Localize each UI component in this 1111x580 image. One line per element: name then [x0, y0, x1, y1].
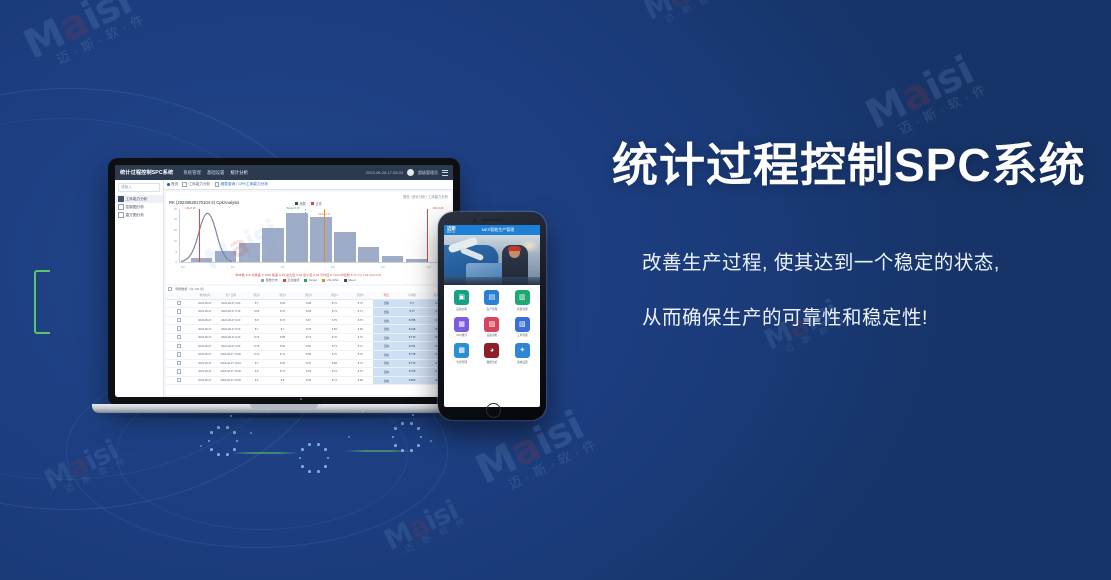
tab-report-cpk[interactable]: 报表查询 / CPK工序能力分析 [215, 182, 269, 187]
phone-logo-text: 迈斯 [447, 226, 456, 231]
sidebar-search-placeholder: 请输入 [121, 185, 132, 190]
tab-home[interactable]: 首页 [167, 182, 178, 187]
decor-spark [230, 415, 232, 417]
decor-dot-ring [206, 424, 240, 458]
laptop-lid: 统计过程控制SPC系统 系统管理 基础设置 统计分析 2023-06-28 17… [108, 158, 460, 406]
sidebar-item-histogram[interactable]: 直方图分析 [115, 211, 163, 219]
table-cell: 8.76 [347, 316, 373, 325]
nav-item-analysis[interactable]: 统计分析 [230, 170, 248, 176]
watermark: Maisi迈·斯·软·件 [640, 0, 730, 31]
table-row[interactable]: 2023-06-272023-06-27 10:308.18.88.668.74… [166, 376, 451, 385]
row-checkbox[interactable] [177, 301, 181, 305]
y-tick: 10 [174, 239, 177, 243]
table-header-row: 检验时间生产日期测点1测点2测点3测点4测点5判定平均值标准差 [166, 292, 451, 299]
decor-spark [412, 414, 414, 416]
row-checkbox[interactable] [177, 344, 181, 348]
row-checkbox[interactable] [177, 378, 181, 382]
phone-app-tile[interactable]: ▨工单管理 [509, 317, 536, 338]
table-cell: 8.72 [321, 299, 347, 308]
square-icon [182, 182, 187, 187]
table-cell: 8.66 [244, 308, 270, 317]
tab-bar: 首页 工序能力分析 报表查询 / CPK工序能力分析 [164, 180, 453, 190]
table-cell: 8.78 [244, 342, 270, 351]
table-toolbar-label: 明细数据（共 120 条） [175, 287, 206, 291]
app-body: 请输入 工序能力分析 控制图分析 直方图分析 [115, 180, 453, 397]
table-cell: 8.72 [244, 351, 270, 360]
x-tick: 8.8 [331, 266, 335, 269]
stats-legend-item: Mean [344, 278, 356, 282]
table-cell: 2023-06-27 9:40 [218, 333, 244, 342]
table-cell: 2023-06-27 [192, 333, 218, 342]
table-cell: 8.7 [244, 359, 270, 368]
table-cell: 8.8 [244, 368, 270, 377]
x-tick: 9.2 [427, 266, 431, 269]
table-cell: 2023-06-27 9:30 [218, 325, 244, 334]
table-cell: 8.68 [296, 299, 322, 308]
target-line [305, 209, 306, 262]
stats-legend-label: Target [309, 278, 317, 282]
table-cell: 8.69 [296, 368, 322, 377]
table-cell: 8.79 [244, 333, 270, 342]
dot-icon [167, 183, 170, 186]
table-column-header: 测点3 [296, 292, 322, 299]
square-icon [215, 182, 220, 187]
phone-app-tile[interactable]: ▩仓库管理 [448, 343, 475, 364]
app-tile-label: 数据分析 [487, 360, 498, 364]
sidebar-item-label: 直方图分析 [126, 213, 144, 218]
app-tile-icon: ▩ [454, 343, 469, 358]
histogram-bar [382, 256, 403, 262]
table-cell: 8.7 [244, 299, 270, 308]
table-cell: 2023-06-27 [192, 342, 218, 351]
table-cell: 8.77 [399, 308, 425, 317]
app-tile-icon: ◕ [484, 343, 499, 358]
phone-logo-sub: MAISI [447, 232, 456, 234]
histogram-bar [310, 217, 331, 262]
table-cell: 8.7 [244, 325, 270, 334]
app-tile-label: 系统设置 [517, 360, 528, 364]
table-cell: 8.73 [321, 342, 347, 351]
legend-label: 频数 [300, 201, 306, 206]
tab-label: 报表查询 / CPK工序能力分析 [221, 182, 269, 187]
app-tile-icon: ▥ [515, 290, 530, 305]
y-tick: 5 [175, 250, 177, 254]
phone-body: 迈斯 MAISI MES智能生产管理 ▣设备台账▤生产管理▥质量管 [438, 212, 546, 420]
table-cell: 2023-06-27 [192, 299, 218, 308]
stats-legend-label: Mean [348, 278, 356, 282]
sidebar-item-process-capability[interactable]: 工序能力分析 [115, 195, 163, 203]
table-cell: 合格 [373, 316, 399, 325]
nav-item-system[interactable]: 系统管理 [183, 170, 201, 176]
decor-spark [348, 436, 350, 438]
tab-process-capability[interactable]: 工序能力分析 [182, 182, 210, 187]
table-cell: 8.75 [347, 351, 373, 360]
chart-stats-legend: 频数分布 正态曲线 Target LSL/USL Mean [169, 278, 448, 282]
table-cell: 2023-06-27 [192, 376, 218, 385]
checkbox-icon[interactable] [168, 287, 172, 291]
nav-item-basic[interactable]: 基础设置 [207, 170, 225, 176]
speaker-grille [481, 219, 503, 221]
table-cell: 2023-06-27 [192, 316, 218, 325]
table-cell: 合格 [373, 342, 399, 351]
file-icon [118, 212, 124, 218]
app-tile-icon: ▧ [484, 317, 499, 332]
table-row[interactable]: 2023-06-272023-06-27 10:208.88.718.698.7… [166, 368, 451, 377]
table-cell: 8.778 [399, 351, 425, 360]
home-button[interactable] [486, 403, 501, 418]
watermark: Maisi迈·斯·软·件 [860, 47, 993, 148]
legend-label: 正态 [316, 201, 322, 206]
y-tick: 20 [174, 217, 177, 221]
table-cell: 8.1 [244, 376, 270, 385]
phone-app-tile[interactable]: ▥质量管理 [509, 290, 536, 311]
phone-screen: 迈斯 MAISI MES智能生产管理 ▣设备台账▤生产管理▥质量管 [444, 225, 540, 407]
breadcrumb: 首页 / 统计分析 / 工序能力分析 [169, 194, 448, 199]
chart-stats-text: 样本数 120 标准差 0.1682 极差 0.94 最大值 9.18 最小值 … [235, 272, 381, 277]
table-cell: 8.70 [347, 368, 373, 377]
table-cell: 合格 [373, 376, 399, 385]
table-column-header: 平均值 [399, 292, 425, 299]
app-logo: 统计过程控制SPC系统 [120, 169, 173, 176]
x-tick: 8.6 [281, 266, 285, 269]
table-cell: 合格 [373, 308, 399, 317]
decor-spark [300, 398, 302, 400]
app-tile-icon: ✦ [515, 343, 530, 358]
tab-label: 首页 [171, 182, 178, 187]
histogram-bar [239, 243, 260, 262]
table-cell: 8.70 [321, 333, 347, 342]
table-cell: 8.71 [347, 308, 373, 317]
x-tick: 8.4 [231, 266, 235, 269]
phone-mockup: 迈斯 MAISI MES智能生产管理 ▣设备台账▤生产管理▥质量管 [438, 212, 546, 420]
table-cell: 合格 [373, 368, 399, 377]
histogram-bar [262, 228, 283, 262]
sidebar-item-label: 工序能力分析 [126, 197, 148, 202]
table-cell: 8.72 [270, 316, 296, 325]
table-cell: 8.71 [270, 368, 296, 377]
watermark: Maisi迈·斯·软·件 [380, 493, 470, 561]
page-title: 统计过程控制SPC系统 [612, 140, 1092, 192]
app-nav[interactable]: 系统管理 基础设置 统计分析 [183, 170, 248, 176]
decor-spark [268, 408, 270, 410]
table-column-header: 生产日期 [218, 292, 244, 299]
table-cell: 8.448 [399, 325, 425, 334]
table-cell: 8.67 [296, 316, 322, 325]
app-timestamp: 2023-06-28 17:28:33 [366, 170, 403, 175]
phone-app-title: MES智能生产管理 [482, 227, 515, 233]
table-cell: 2023-06-27 9:10 [218, 308, 244, 317]
stats-legend-label: 频数分布 [266, 278, 278, 282]
table-cell: 8.73 [347, 359, 373, 368]
legend-swatch [311, 202, 314, 205]
annotation-target: Target 8.70 [286, 207, 299, 210]
avatar[interactable] [407, 169, 414, 176]
laptop-screen: 统计过程控制SPC系统 系统管理 基础设置 统计分析 2023-06-28 17… [115, 165, 453, 397]
app-tile-icon: ▨ [515, 317, 530, 332]
y-tick: 0 [175, 260, 177, 264]
table-cell: 2023-06-27 [192, 359, 218, 368]
app-tile-icon: ▤ [484, 290, 499, 305]
table-cell: 2023-06-27 9:50 [218, 342, 244, 351]
laptop-mockup: 统计过程控制SPC系统 系统管理 基础设置 统计分析 2023-06-28 17… [108, 158, 460, 406]
file-icon [118, 204, 124, 210]
row-checkbox[interactable] [177, 335, 181, 339]
decor-line-left [232, 452, 298, 454]
tab-label: 工序能力分析 [188, 182, 210, 187]
y-tick: 25 [174, 207, 177, 211]
annotation-mean: Mean 8.71 [318, 213, 330, 216]
camera-icon [473, 219, 476, 222]
table-cell: 8.69 [347, 325, 373, 334]
phone-app-tile[interactable]: ◕数据分析 [478, 343, 505, 364]
table-cell: 2023-06-27 [192, 308, 218, 317]
table-column-header: 测点5 [347, 292, 373, 299]
y-axis: 25 20 15 10 5 0 [169, 207, 178, 263]
table-body: 2023-06-272023-06-27 9:008.78.668.688.72… [166, 299, 451, 385]
table-cell: 2023-06-27 [192, 351, 218, 360]
table-cell: 2023-06-27 10:10 [218, 359, 244, 368]
table-cell: 8.8 [270, 376, 296, 385]
table-cell: 合格 [373, 325, 399, 334]
plot-area: LSL 8.20 Target 8.70 Mean 8.71 USL 9.20 [179, 209, 446, 263]
app-tile-label: SPC统计 [456, 333, 467, 337]
app-username[interactable]: 超级管理员 [418, 170, 438, 176]
histogram-bar [358, 247, 379, 262]
app-tile-label: 生产管理 [487, 307, 498, 311]
table-row[interactable]: 2023-06-272023-06-27 9:408.798.688.748.7… [166, 333, 451, 342]
laptop-base [92, 404, 476, 413]
cpk-histogram-chart: 25 20 15 10 5 0 [169, 207, 448, 271]
mean-line [324, 209, 325, 262]
decor-spark [320, 404, 322, 406]
table-cell: 8.70 [321, 351, 347, 360]
app-header: 统计过程控制SPC系统 系统管理 基础设置 统计分析 2023-06-28 17… [115, 165, 453, 180]
table-cell: 8.72 [347, 333, 373, 342]
row-checkbox[interactable] [177, 352, 181, 356]
table-row[interactable]: 2023-06-272023-06-27 9:508.788.698.668.7… [166, 342, 451, 351]
row-checkbox[interactable] [177, 318, 181, 322]
table-cell: 8.770 [399, 359, 425, 368]
decor-dot-ring [297, 441, 331, 475]
normal-curve [180, 209, 233, 262]
table-cell: 8.70 [270, 308, 296, 317]
decor-spark [362, 410, 364, 412]
watermark: Maisi迈·斯·软·件 [18, 0, 151, 78]
table-row[interactable]: 2023-06-272023-06-27 9:208.88.728.678.75… [166, 316, 451, 325]
table-cell: 8.70 [347, 299, 373, 308]
table-cell: 8.74 [270, 351, 296, 360]
phone-app-tile[interactable]: ▤生产管理 [478, 290, 505, 311]
stats-legend-label: LSL/USL [327, 278, 339, 282]
table-cell: 8.72 [321, 368, 347, 377]
phone-banner-photo [444, 235, 540, 285]
table-cell: 8.68 [270, 333, 296, 342]
app-sidebar: 请输入 工序能力分析 控制图分析 直方图分析 [115, 180, 164, 397]
table-cell: 8.66 [270, 299, 296, 308]
table-row[interactable]: 2023-06-272023-06-27 9:008.78.668.688.72… [166, 299, 451, 308]
banner-stage: 统计过程控制SPC系统 系统管理 基础设置 统计分析 2023-06-28 17… [0, 0, 1111, 580]
table-column-header: 判定 [373, 292, 399, 299]
chart-panel: 首页 / 统计分析 / 工序能力分析 RK (20230628170104-2)… [166, 192, 451, 284]
detail-table: 检验时间生产日期测点1测点2测点3测点4测点5判定平均值标准差 2023-06-… [166, 292, 451, 385]
table-row[interactable]: 2023-06-272023-06-27 10:108.78.668.768.6… [166, 359, 451, 368]
stats-legend-item: Target [304, 278, 317, 282]
table-column-header [166, 292, 192, 299]
table-cell: 合格 [373, 359, 399, 368]
hamburger-icon[interactable] [442, 170, 448, 176]
table-column-header: 检验时间 [192, 292, 218, 299]
legend-swatch [295, 202, 298, 205]
x-tick: 9.0 [381, 266, 385, 269]
row-checkbox[interactable] [177, 326, 181, 330]
app-tile-label: 仓库管理 [456, 360, 467, 364]
table-cell: 8.68 [347, 376, 373, 385]
histogram-bar [406, 259, 427, 262]
table-cell: 8.660 [399, 376, 425, 385]
table-cell: 8.68 [296, 351, 322, 360]
sidebar-item-control-chart[interactable]: 控制图分析 [115, 203, 163, 211]
table-cell: 8.74 [321, 376, 347, 385]
stats-legend-label: 正态曲线 [287, 278, 299, 282]
app-header-right: 2023-06-28 17:28:33 超级管理员 [366, 169, 448, 176]
table-cell: 2023-06-27 [192, 368, 218, 377]
table-column-header: 测点1 [244, 292, 270, 299]
sidebar-search-input[interactable]: 请输入 [118, 183, 160, 192]
hero-subcopy: 改善生产过程, 使其达到一个稳定的状态, 从而确保生产的可靠性和稳定性! [612, 254, 1092, 329]
folder-icon [118, 196, 124, 202]
histogram-bar [334, 232, 355, 262]
row-checkbox[interactable] [177, 361, 181, 365]
hero-copy: 统计过程控制SPC系统 改善生产过程, 使其达到一个稳定的状态, 从而确保生产的… [612, 140, 1092, 365]
app-tile-label: 设备巡检 [487, 333, 498, 337]
y-tick: 15 [174, 228, 177, 232]
row-checkbox[interactable] [177, 369, 181, 373]
phone-app-header: 迈斯 MAISI MES智能生产管理 [444, 225, 540, 235]
photo-worker-cap [508, 246, 521, 251]
table-cell: 合格 [373, 333, 399, 342]
table-cell: 合格 [373, 299, 399, 308]
stats-legend-item: 正态曲线 [283, 278, 300, 282]
decor-spark [250, 432, 252, 434]
table-cell: 8.66 [296, 342, 322, 351]
decor-green-bracket [34, 270, 50, 334]
table-cell: 合格 [373, 351, 399, 360]
decor-dot-ring [390, 420, 424, 454]
phone-app-tile[interactable]: ✦系统设置 [509, 343, 536, 364]
usl-line [427, 209, 428, 262]
photo-floor [444, 277, 540, 285]
table-cell: 8.74 [321, 308, 347, 317]
table-cell: 8.751 [399, 342, 425, 351]
table-cell: 8.770 [399, 333, 425, 342]
table-row[interactable]: 2023-06-272023-06-27 10:008.728.748.688.… [166, 351, 451, 360]
table-column-header: 测点4 [321, 292, 347, 299]
table-cell: 2023-06-27 10:30 [218, 376, 244, 385]
table-cell: 8.66 [321, 325, 347, 334]
app-tile-icon: ▣ [454, 290, 469, 305]
legend-item-normal: 正态 [311, 201, 322, 206]
table-cell: 8.69 [296, 308, 322, 317]
decor-spark [430, 440, 432, 442]
table-cell: 8.7 [270, 325, 296, 334]
row-checkbox[interactable] [177, 309, 181, 313]
table-cell: 2023-06-27 [192, 325, 218, 334]
annotation-lsl: LSL 8.20 [185, 207, 195, 210]
stats-legend-item: LSL/USL [322, 278, 339, 282]
table-cell: 8.71 [347, 342, 373, 351]
app-tile-label: 设备台账 [456, 307, 467, 311]
table-cell: 8.74 [296, 333, 322, 342]
watermark: Maisi迈·斯·软·件 [40, 433, 130, 501]
phone-app-grid: ▣设备台账▤生产管理▥质量管理▦SPC统计▧设备巡检▨工单管理▩仓库管理◕数据分… [444, 285, 540, 369]
phone-app-tile[interactable]: ▦SPC统计 [448, 317, 475, 338]
subline-2: 从而确保生产的可靠性和稳定性! [642, 309, 1092, 329]
legend-item-frequency: 频数 [295, 201, 306, 206]
table-cell: 8.66 [270, 359, 296, 368]
table-row[interactable]: 2023-06-272023-06-27 9:308.78.78.788.668… [166, 325, 451, 334]
table-cell: 8.78 [296, 325, 322, 334]
chart-stats-line: 样本数 120 标准差 0.1682 极差 0.94 最大值 9.18 最小值 … [169, 272, 448, 277]
table-cell: 8.75 [321, 316, 347, 325]
table-cell: 2023-06-27 9:00 [218, 299, 244, 308]
x-tick: 8.2 [181, 266, 185, 269]
phone-app-tile[interactable]: ▧设备巡检 [478, 317, 505, 338]
laptop-shadow [82, 413, 486, 419]
table-cell: 8.69 [270, 342, 296, 351]
table-cell: 2023-06-27 10:00 [218, 351, 244, 360]
app-tile-label: 质量管理 [517, 307, 528, 311]
table-cell: 2023-06-27 10:20 [218, 368, 244, 377]
app-tile-icon: ▦ [454, 317, 469, 332]
lsl-line [199, 209, 200, 262]
subline-1: 改善生产过程, 使其达到一个稳定的状态, [642, 254, 1092, 274]
decor-spark [200, 445, 202, 447]
detail-table-panel: 明细数据（共 120 条） 检验时间生产日期测点1测点2测点3测点4测点5判定平… [166, 286, 451, 395]
guide-line [223, 209, 224, 262]
table-cell: 8.750 [399, 368, 425, 377]
annotation-usl: USL 9.20 [433, 207, 444, 210]
table-column-header: 测点2 [270, 292, 296, 299]
table-cell: 8.76 [296, 359, 322, 368]
phone-app-tile[interactable]: ▣设备台账 [448, 290, 475, 311]
app-tile-label: 工单管理 [517, 333, 528, 337]
phone-logo: 迈斯 MAISI [447, 226, 456, 234]
table-cell: 8.68 [321, 359, 347, 368]
table-cell: 8.8 [244, 316, 270, 325]
table-cell: 8.66 [296, 376, 322, 385]
app-main: 首页 工序能力分析 报表查询 / CPK工序能力分析 [164, 180, 453, 397]
table-cell: 2023-06-27 9:20 [218, 316, 244, 325]
table-row[interactable]: 2023-06-272023-06-27 9:108.668.708.698.7… [166, 308, 451, 317]
sidebar-item-label: 控制图分析 [126, 205, 144, 210]
stats-legend-item: 频数分布 [261, 278, 278, 282]
table-cell: 8.7 [399, 299, 425, 308]
table-cell: 8.786 [399, 316, 425, 325]
